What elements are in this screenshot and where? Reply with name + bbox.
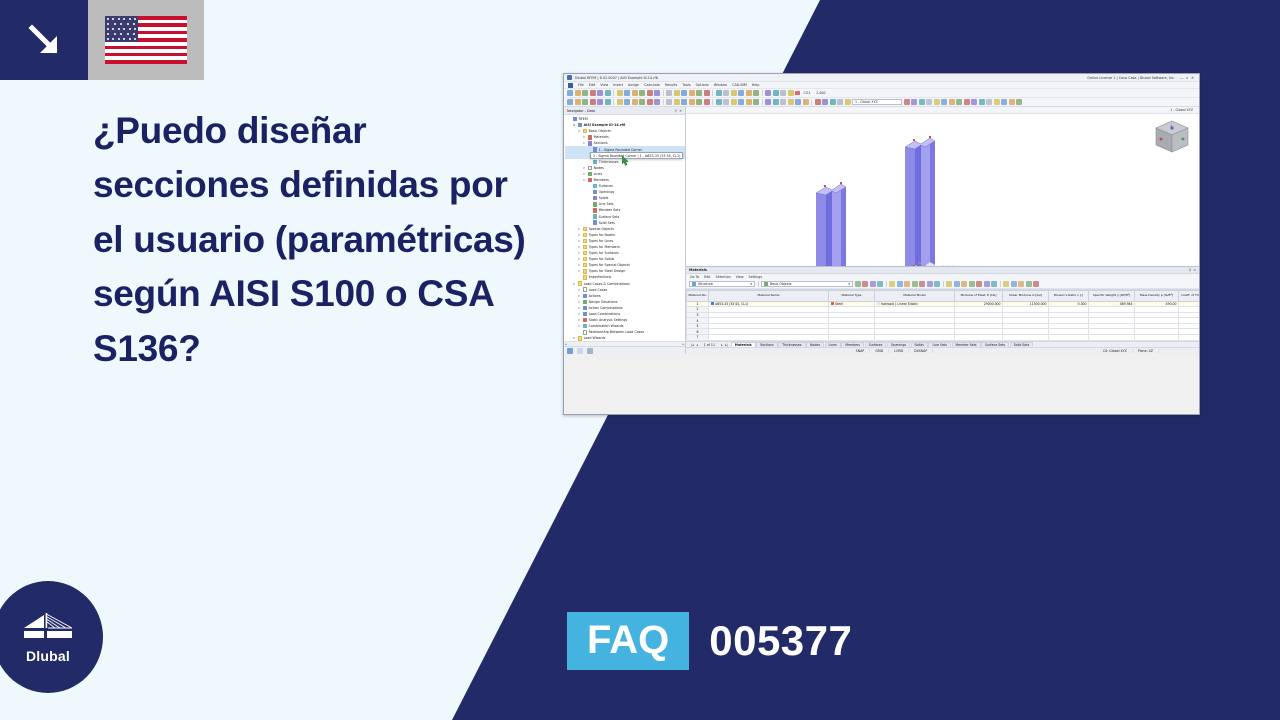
cell-empty-8[interactable] (1135, 335, 1179, 341)
toolbar-button-6[interactable] (605, 99, 611, 105)
menu-item-view[interactable]: View (600, 83, 608, 87)
toolbar2-button-2[interactable] (911, 99, 917, 105)
toolbar2-button-4[interactable] (926, 99, 932, 105)
materials-window-buttons[interactable]: ⚲ ✕ (1189, 268, 1196, 272)
blue-node-icon (583, 312, 587, 316)
expand-icon[interactable]: > (577, 251, 581, 255)
toolbar-button-2[interactable] (575, 90, 581, 96)
expand-icon[interactable]: > (577, 233, 581, 237)
toolbar-button-38[interactable] (830, 99, 836, 105)
toolbar-button-5[interactable] (597, 90, 603, 96)
folder-node-icon (583, 257, 587, 261)
expand-icon[interactable]: > (577, 263, 581, 267)
basic-objects-combo[interactable]: Basic Objects ▾ (761, 281, 853, 287)
menu-item-file[interactable]: File (578, 83, 584, 87)
navigator-views-icon[interactable] (587, 348, 593, 354)
column-header-4[interactable]: Modulus of Elast. E [ksi] (955, 290, 1003, 301)
materials-toolbar-button-22[interactable] (1003, 281, 1009, 287)
rfem-toolbar-row-2[interactable]: 1 - Global XYZ (564, 98, 1199, 107)
cell-empty-1[interactable] (709, 335, 829, 341)
menu-logo-icon (568, 83, 573, 88)
expand-icon[interactable]: > (577, 306, 581, 310)
expand-icon[interactable]: > (577, 300, 581, 304)
tree-item-label: Load Cases (589, 288, 608, 292)
pin-icon[interactable]: ⚲ (675, 109, 677, 113)
expand-icon[interactable]: > (577, 324, 581, 328)
toolbar-button-29[interactable] (765, 90, 771, 96)
materials-menu-edit[interactable]: Edit (704, 275, 710, 279)
white-node-icon (583, 287, 587, 291)
navigator-footer[interactable] (564, 346, 685, 354)
toolbar-button-9[interactable] (624, 99, 630, 105)
toolbar-button-31[interactable] (780, 90, 786, 96)
svg-text:1: 1 (1170, 124, 1172, 128)
toolbar-button-22[interactable] (716, 99, 722, 105)
materials-window-title: Materials (689, 268, 707, 272)
status-toggle-dxsnap[interactable]: DXSNAP (909, 349, 933, 353)
materials-toolbar-button-15[interactable] (954, 281, 960, 287)
materials-menu-go-to[interactable]: Go To (690, 275, 699, 279)
violet-node-icon (588, 141, 592, 145)
collapse-icon[interactable]: ∨ (572, 282, 576, 286)
materials-menu-settings[interactable]: Settings (749, 275, 763, 279)
rfem-window-title: Dlubal RFEM | 6.02.0047 | AISI Example I… (575, 76, 658, 80)
menu-item-results[interactable]: Results (665, 83, 677, 87)
navigator-display-icon[interactable] (577, 348, 583, 354)
toolbar-button-31[interactable] (780, 99, 786, 105)
red-node-icon (588, 178, 592, 182)
toolbar2-button-5[interactable] (934, 99, 940, 105)
menu-item-insert[interactable]: Insert (613, 83, 623, 87)
column-header-5[interactable]: Shear Modulus G [ksi] (1003, 290, 1049, 301)
toolbar-button-32[interactable] (788, 90, 794, 96)
expand-icon[interactable]: > (582, 135, 586, 139)
toolbar2-button-7[interactable] (949, 99, 955, 105)
violet-node-icon (593, 196, 597, 200)
toolbar-button-8[interactable] (617, 90, 623, 96)
materials-toolbar-button-11[interactable] (927, 281, 933, 287)
expand-icon[interactable]: > (572, 336, 576, 340)
collapse-icon[interactable]: ∨ (577, 129, 581, 133)
tree-item-label: Load Cases & Combinations (584, 282, 630, 286)
toolbar2-button-3[interactable] (919, 99, 925, 105)
materials-toolbar-button-2[interactable] (862, 281, 868, 287)
toolbar2-button-14[interactable] (1001, 99, 1007, 105)
viewport-tab-strip[interactable]: 1 - Global XYZ (686, 107, 1199, 114)
toolbar-button-3[interactable] (582, 90, 588, 96)
combination-label[interactable]: CO1 (802, 91, 813, 95)
rfem-title-bar: Dlubal RFEM | 6.02.0047 | AISI Example I… (564, 74, 1199, 82)
cell-swatch-icon (711, 302, 714, 305)
materials-toolbar[interactable]: Structure ▾ Basic Objects ▾ (686, 281, 1199, 289)
tree-item-label: Load Combinations (589, 312, 621, 316)
toolbar-button-10[interactable] (632, 99, 638, 105)
toolbar-button-34[interactable] (803, 99, 809, 105)
tree-item-label: Action Combinations (589, 306, 623, 310)
dlubal-logo: Dlubal (0, 581, 103, 693)
us-flag-icon (105, 16, 187, 64)
toolbar-button-30[interactable] (773, 90, 779, 96)
materials-toolbar-button-17[interactable] (969, 281, 975, 287)
folder-node-icon (583, 233, 587, 237)
menu-item-window[interactable]: Window (714, 83, 727, 87)
materials-toolbar-button-18[interactable] (976, 281, 982, 287)
pin-icon[interactable]: ⚲ (1189, 268, 1191, 272)
toolbar-button-26[interactable] (746, 90, 752, 96)
tree-item-label: Nodes (594, 166, 604, 170)
toolbar-button-4[interactable] (590, 90, 596, 96)
folder-node-icon (583, 245, 587, 249)
green-node-icon (588, 172, 592, 176)
navigator-header: Navigator - Data ⚲ ✕ (564, 107, 685, 115)
tree-item-label: 1 - Sigma Rounded Corner (599, 148, 642, 152)
materials-menu-view[interactable]: View (736, 275, 744, 279)
column-header-1[interactable]: Material Name (709, 290, 829, 301)
toolbar-button-24[interactable] (731, 90, 737, 96)
toolbar-separator (762, 90, 763, 96)
cell-empty-3[interactable] (875, 335, 955, 341)
folder-node-icon (583, 239, 587, 243)
teal-node-icon (583, 324, 587, 328)
column-header-0[interactable]: Material No. (687, 290, 709, 301)
toolbar2-button-13[interactable] (994, 99, 1000, 105)
cell-swatch-icon (877, 302, 880, 305)
table-row-empty[interactable]: 7 (687, 335, 1200, 341)
tree-item-label: Types for Solids (589, 257, 615, 261)
green-node-icon (593, 202, 597, 206)
toolbar-button-24[interactable] (731, 99, 737, 105)
materials-toolbar-button-14[interactable] (946, 281, 952, 287)
folder-node-icon (583, 263, 587, 267)
navigator-title: Navigator - Data (567, 109, 595, 113)
close-icon[interactable]: ✕ (1193, 268, 1196, 272)
red-node-icon (583, 318, 587, 322)
status-toggle-snap[interactable]: SNAP (851, 349, 871, 353)
materials-toolbar-button-10[interactable] (919, 281, 925, 287)
cell-empty-7[interactable] (1089, 335, 1135, 341)
faq-badge: FAQ (567, 612, 689, 670)
expand-icon[interactable]: > (577, 269, 581, 273)
folder-node-icon (578, 281, 582, 285)
materials-grid[interactable]: Material No.Material NameMaterial TypeMa… (686, 289, 1199, 341)
tree-item-label: Members (594, 178, 609, 182)
toolbar-button-23[interactable] (723, 90, 729, 96)
toolbar-button-33[interactable] (795, 99, 801, 105)
toolbar-button-26[interactable] (746, 99, 752, 105)
minimize-icon[interactable]: — (1180, 76, 1184, 80)
collapse-icon[interactable]: ∨ (572, 123, 576, 127)
toolbar-button-18[interactable] (689, 90, 695, 96)
rfem-application-window[interactable]: Dlubal RFEM | 6.02.0047 | AISI Example I… (563, 73, 1200, 415)
tree-item-label: Types for Nodes (589, 233, 615, 237)
page-title: ¿Puedo diseñar secciones definidas por e… (93, 104, 533, 376)
toolbar-button-9[interactable] (624, 90, 630, 96)
toolbar-button-10[interactable] (632, 90, 638, 96)
cell-text: Isotropic | Linear Elastic (881, 302, 918, 306)
blue-node-icon (578, 123, 582, 127)
red-node-icon (593, 208, 597, 212)
toolbar-button-13[interactable] (654, 99, 660, 105)
column-header-8[interactable]: Mass Density ρ [lb/ft³] (1135, 290, 1179, 301)
toolbar-button-19[interactable] (696, 99, 702, 105)
tree-item-label: Sections (594, 141, 608, 145)
section-tooltip: 1 - Sigma Rounded Corner | 1 - A653-33 (… (590, 152, 683, 159)
folder-node-icon (583, 275, 587, 279)
toolbar-button-13[interactable] (654, 90, 660, 96)
white-node-icon (583, 330, 587, 334)
expand-icon[interactable]: > (577, 245, 581, 249)
model-viewport[interactable]: 1 - Global XYZ (686, 107, 1199, 354)
toolbar2-button-10[interactable] (971, 99, 977, 105)
expand-icon[interactable]: > (577, 294, 581, 298)
viewport-tab-label[interactable]: 1 - Global XYZ (1167, 108, 1196, 112)
blue-node-icon (583, 306, 587, 310)
toolbar-button-1[interactable] (567, 90, 573, 96)
toolbar2-button-1[interactable] (904, 99, 910, 105)
toolbar-button-1[interactable] (567, 99, 573, 105)
toolbar2-button-15[interactable] (1009, 99, 1015, 105)
toolbar-button-11[interactable] (639, 99, 645, 105)
toolbar-button-17[interactable] (681, 99, 687, 105)
tree-item-load-wizards[interactable]: >Load Wizards (565, 335, 685, 341)
toolbar-button-29[interactable] (765, 99, 771, 105)
tree-item-label: Combination Wizards (589, 324, 624, 328)
tree-item-label: Types for Special Objects (589, 263, 630, 267)
toolbar-button-4[interactable] (590, 99, 596, 105)
toolbar-button-32[interactable] (788, 99, 794, 105)
toolbar-button-22[interactable] (716, 90, 722, 96)
menu-item-options[interactable]: Options (696, 83, 709, 87)
rfem-status-bar: SNAP GRID LORD DXSNAP CS: Global XYZ Pla… (686, 347, 1199, 354)
green-node-icon (583, 300, 587, 304)
blue-node-icon (573, 117, 577, 121)
view-cube-widget[interactable]: 1 (1153, 119, 1191, 157)
toolbar-button-6[interactable] (605, 90, 611, 96)
toolbar2-button-6[interactable] (941, 99, 947, 105)
materials-toolbar-button-20[interactable] (991, 281, 997, 287)
blue-node-icon (583, 294, 587, 298)
materials-toolbar-button-26[interactable] (1033, 281, 1039, 287)
toolbar-button-15[interactable] (666, 90, 672, 96)
tree-item-label: Member Sets (599, 208, 621, 212)
dlubal-bridge-icon (22, 611, 74, 645)
cell-empty-4[interactable] (955, 335, 1003, 341)
close-icon[interactable]: ✕ (1191, 76, 1194, 80)
toolbar-button-12[interactable] (647, 99, 653, 105)
tree-item-label: Relationship Between Load Cases (589, 330, 645, 334)
cell-empty-6[interactable] (1049, 335, 1089, 341)
cell-text: A653-33 (33 SS, CL1) (715, 302, 748, 306)
tree-item-label: Solid Sets (599, 221, 615, 225)
language-flag-button[interactable] (88, 0, 204, 80)
toolbar-button-30[interactable] (773, 99, 779, 105)
folder-node-icon (583, 269, 587, 273)
tree-item-label: Actions (589, 294, 601, 298)
menu-item-cad-bim[interactable]: CAD-BIM (732, 83, 747, 87)
close-icon[interactable]: ✕ (679, 109, 682, 113)
toolbar-button-37[interactable] (822, 99, 828, 105)
menu-item-assign[interactable]: Assign (628, 83, 639, 87)
materials-header-row: Material No.Material NameMaterial TypeMa… (687, 290, 1200, 301)
toolbar-button-18[interactable] (689, 99, 695, 105)
tree-item-label: Solids (599, 196, 609, 200)
expand-icon[interactable]: > (577, 288, 581, 292)
expand-icon[interactable]: > (577, 312, 581, 316)
column-header-7[interactable]: Specific Weight γ [lbf/ft³] (1089, 290, 1135, 301)
toolbar-button-11[interactable] (639, 90, 645, 96)
toolbar-button-27[interactable] (753, 90, 759, 96)
materials-toolbar-button-8[interactable] (904, 281, 910, 287)
toolbar-button-20[interactable] (704, 90, 710, 96)
toolbar-button-40[interactable] (845, 99, 851, 105)
toolbar2-button-16[interactable] (1016, 99, 1022, 105)
toolbar-button-16[interactable] (674, 90, 680, 96)
toolbar-button-3[interactable] (582, 99, 588, 105)
navigator-panel[interactable]: Navigator - Data ⚲ ✕ RFEM∨AISI Example I… (564, 107, 686, 354)
materials-toolbar-button-3[interactable] (870, 281, 876, 287)
column-header-9[interactable]: Coeff. of Th. Exp. α [1/°F] (1179, 290, 1200, 301)
tree-item-label: Types for Surfaces (589, 251, 619, 255)
faq-footer: FAQ 005377 (567, 612, 852, 670)
expand-icon[interactable]: > (577, 227, 581, 231)
toolbar-separator (712, 99, 713, 105)
materials-toolbar-button-6[interactable] (889, 281, 895, 287)
top-left-blocks (0, 0, 204, 80)
coordinate-system-combo[interactable]: 1 - Global XYZ (852, 99, 902, 105)
toolbar2-button-9[interactable] (964, 99, 970, 105)
menu-item-tools[interactable]: Tools (682, 83, 690, 87)
status-toggle-lord[interactable]: LORD (889, 349, 909, 353)
menu-item-edit[interactable]: Edit (589, 83, 596, 87)
toolbar-button-19[interactable] (696, 90, 702, 96)
materials-toolbar-button-25[interactable] (1026, 281, 1032, 287)
tree-item-label: Thicknesses (599, 160, 619, 164)
folder-node-icon (578, 336, 582, 340)
toolbar-separator (811, 99, 812, 105)
expand-icon[interactable]: > (577, 318, 581, 322)
tree-item-label: Types for Lines (589, 239, 614, 243)
toolbar2-button-12[interactable] (986, 99, 992, 105)
navigator-data-icon[interactable] (567, 348, 573, 354)
toolbar-button-27[interactable] (753, 99, 759, 105)
materials-toolbar-button-4[interactable] (877, 281, 883, 287)
menu-item-help[interactable]: Help (752, 83, 760, 87)
materials-toolbar-button-9[interactable] (912, 281, 918, 287)
menu-item-calculate[interactable]: Calculate (644, 83, 660, 87)
materials-toolbar-button-23[interactable] (1011, 281, 1017, 287)
materials-toolbar-button-19[interactable] (984, 281, 990, 287)
blue-node-icon (593, 220, 597, 224)
toolbar-button-17[interactable] (681, 90, 687, 96)
tree-item-label: Types for Steel Design (589, 269, 626, 273)
tree-item-label: Types for Members (589, 245, 620, 249)
column-header-2[interactable]: Material Type (829, 290, 875, 301)
toolbar-button-36[interactable] (815, 99, 821, 105)
tree-item-label: Line Sets (599, 202, 614, 206)
expand-icon[interactable]: > (577, 257, 581, 261)
column-header-3[interactable]: Material Model (875, 290, 955, 301)
expand-icon[interactable]: > (582, 178, 586, 182)
tree-item-label: Special Objects (589, 227, 614, 231)
column-header-6[interactable]: Poisson's Ratio ν [-] (1049, 290, 1089, 301)
red-node-icon (588, 135, 592, 139)
rfem-menu-bar[interactable]: FileEditViewInsertAssignCalculateResults… (564, 82, 1199, 89)
load-factor-value[interactable]: 1.400 (814, 91, 827, 95)
toolbar-button-39[interactable] (837, 99, 843, 105)
toolbar-separator (712, 90, 713, 96)
expand-icon[interactable]: > (582, 172, 586, 176)
white-node-icon (588, 166, 592, 170)
toolbar-separator (663, 99, 664, 105)
cell-empty-2[interactable] (829, 335, 875, 341)
navigator-tree[interactable]: RFEM∨AISI Example III-14.rf6∨Basic Objec… (564, 115, 685, 341)
materials-toolbar-separator (886, 281, 887, 287)
expand-icon[interactable]: > (577, 239, 581, 243)
toolbar2-button-11[interactable] (979, 99, 985, 105)
tree-item-label: Imperfections (589, 275, 612, 279)
toolbar-button-5[interactable] (597, 99, 603, 105)
rfem-app-icon (567, 75, 572, 80)
collapse-icon[interactable]: ∨ (582, 141, 586, 145)
tree-item-label: RFEM (579, 117, 588, 121)
toolbar-button-20[interactable] (704, 99, 710, 105)
cell-empty-9[interactable] (1179, 335, 1200, 341)
cell-empty-5[interactable] (1003, 335, 1049, 341)
materials-table-window[interactable]: Materials ⚲ ✕ Go ToEditSelectionViewSett… (686, 266, 1199, 354)
toolbar-button-12[interactable] (647, 90, 653, 96)
teal-node-icon (593, 214, 597, 218)
window-controls[interactable]: — ▫ ✕ (1180, 76, 1196, 80)
rfem-main-area: Navigator - Data ⚲ ✕ RFEM∨AISI Example I… (564, 107, 1199, 354)
toolbar2-button-8[interactable] (956, 99, 962, 105)
status-toggle-grid[interactable]: GRID (870, 349, 889, 353)
cell-empty-0[interactable]: 7 (687, 335, 709, 341)
materials-menu-selection[interactable]: Selection (715, 275, 730, 279)
teal-node-icon (593, 160, 597, 164)
maximize-icon[interactable]: ▫ (1186, 76, 1188, 80)
arrow-down-right-icon (0, 0, 88, 80)
materials-toolbar-separator (943, 281, 944, 287)
materials-toolbar-button-16[interactable] (961, 281, 967, 287)
status-coordinate-system: CS: Global XYZ (1098, 349, 1133, 353)
materials-toolbar-button-24[interactable] (1018, 281, 1024, 287)
expand-icon[interactable]: > (582, 166, 586, 170)
cell-text: Steel (835, 302, 843, 306)
tree-item-label: Load Wizards (584, 336, 606, 340)
toolbar-button-23[interactable] (723, 99, 729, 105)
materials-toolbar-separator (1000, 281, 1001, 287)
toolbar-button-15[interactable] (666, 99, 672, 105)
toolbar-button-8[interactable] (617, 99, 623, 105)
status-plane: Plane: XZ (1133, 349, 1159, 353)
materials-table[interactable]: Material No.Material NameMaterial TypeMa… (686, 290, 1199, 341)
dlubal-wordmark: Dlubal (26, 648, 70, 664)
blue-node-icon (593, 190, 597, 194)
materials-toolbar-button-7[interactable] (897, 281, 903, 287)
rfem-toolbar-row-1[interactable]: CO11.400 (564, 89, 1199, 98)
toolbar-button-16[interactable] (674, 99, 680, 105)
toolbar-button-25[interactable] (738, 99, 744, 105)
toolbar-button-25[interactable] (738, 90, 744, 96)
toolbar-separator (613, 99, 614, 105)
folder-node-icon (583, 227, 587, 231)
toolbar-button-2[interactable] (575, 99, 581, 105)
materials-toolbar-button-12[interactable] (934, 281, 940, 287)
navigator-header-buttons[interactable]: ⚲ ✕ (675, 109, 682, 113)
structure-combo[interactable]: Structure ▾ (689, 281, 755, 287)
member-angled-section[interactable] (899, 135, 933, 265)
materials-toolbar-button-1[interactable] (855, 281, 861, 287)
